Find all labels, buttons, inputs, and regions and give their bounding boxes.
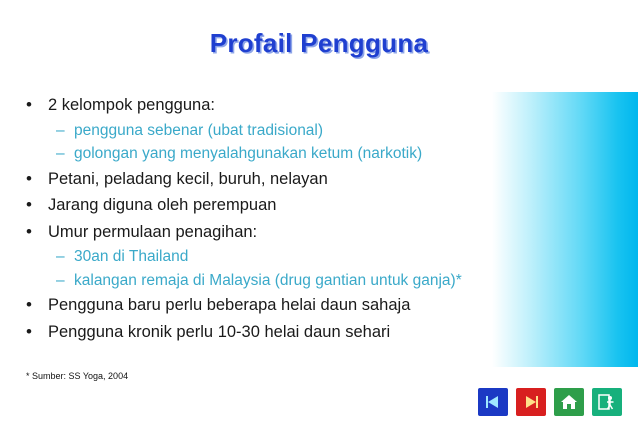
slide: Profail Pengguna • 2 kelompok pengguna: …	[0, 0, 638, 426]
home-icon	[559, 393, 579, 411]
triangle-right-icon	[521, 393, 541, 411]
list-item-label: golongan yang menyalahgunakan ketum (nar…	[74, 146, 586, 162]
list-item: • Petani, peladang kecil, buruh, nelayan	[26, 170, 586, 188]
triangle-left-icon	[483, 393, 503, 411]
list-item: • Pengguna baru perlu beberapa helai dau…	[26, 296, 586, 314]
bullet-marker: •	[26, 170, 48, 187]
slide-navigation	[478, 388, 628, 418]
list-item-label: Pengguna kronik perlu 10-30 helai daun s…	[48, 324, 586, 341]
list-item: – pengguna sebenar (ubat tradisional)	[56, 123, 586, 139]
page-title: Profail Pengguna	[0, 28, 638, 59]
bullet-marker: •	[26, 323, 48, 340]
dash-marker: –	[56, 146, 74, 162]
bullet-marker: •	[26, 296, 48, 313]
next-slide-button[interactable]	[516, 388, 546, 416]
list-item: • 2 kelompok pengguna:	[26, 96, 586, 114]
exit-person-icon	[597, 393, 617, 411]
dash-marker: –	[56, 273, 74, 289]
list-item-label: 2 kelompok pengguna:	[48, 97, 586, 114]
list-item-label: 30an di Thailand	[74, 249, 586, 265]
list-item-label: Umur permulaan penagihan:	[48, 224, 586, 241]
dash-marker: –	[56, 123, 74, 139]
dash-marker: –	[56, 249, 74, 265]
home-button[interactable]	[554, 388, 584, 416]
list-item-label: Pengguna baru perlu beberapa helai daun …	[48, 297, 586, 314]
source-note: * Sumber: SS Yoga, 2004	[26, 371, 128, 381]
list-item-label: pengguna sebenar (ubat tradisional)	[74, 123, 586, 139]
list-item: – golongan yang menyalahgunakan ketum (n…	[56, 146, 586, 162]
bullet-marker: •	[26, 196, 48, 213]
list-item: – 30an di Thailand	[56, 249, 586, 265]
list-item: – kalangan remaja di Malaysia (drug gant…	[56, 273, 586, 289]
bullet-marker: •	[26, 223, 48, 240]
list-item: • Pengguna kronik perlu 10-30 helai daun…	[26, 323, 586, 341]
exit-button[interactable]	[592, 388, 622, 416]
list-item-label: kalangan remaja di Malaysia (drug gantia…	[74, 273, 586, 289]
bullet-marker: •	[26, 96, 48, 113]
list-item: • Umur permulaan penagihan:	[26, 223, 586, 241]
content-list: • 2 kelompok pengguna: – pengguna sebena…	[26, 96, 586, 349]
list-item-label: Jarang diguna oleh perempuan	[48, 197, 586, 214]
list-item-label: Petani, peladang kecil, buruh, nelayan	[48, 171, 586, 188]
previous-slide-button[interactable]	[478, 388, 508, 416]
list-item: • Jarang diguna oleh perempuan	[26, 196, 586, 214]
